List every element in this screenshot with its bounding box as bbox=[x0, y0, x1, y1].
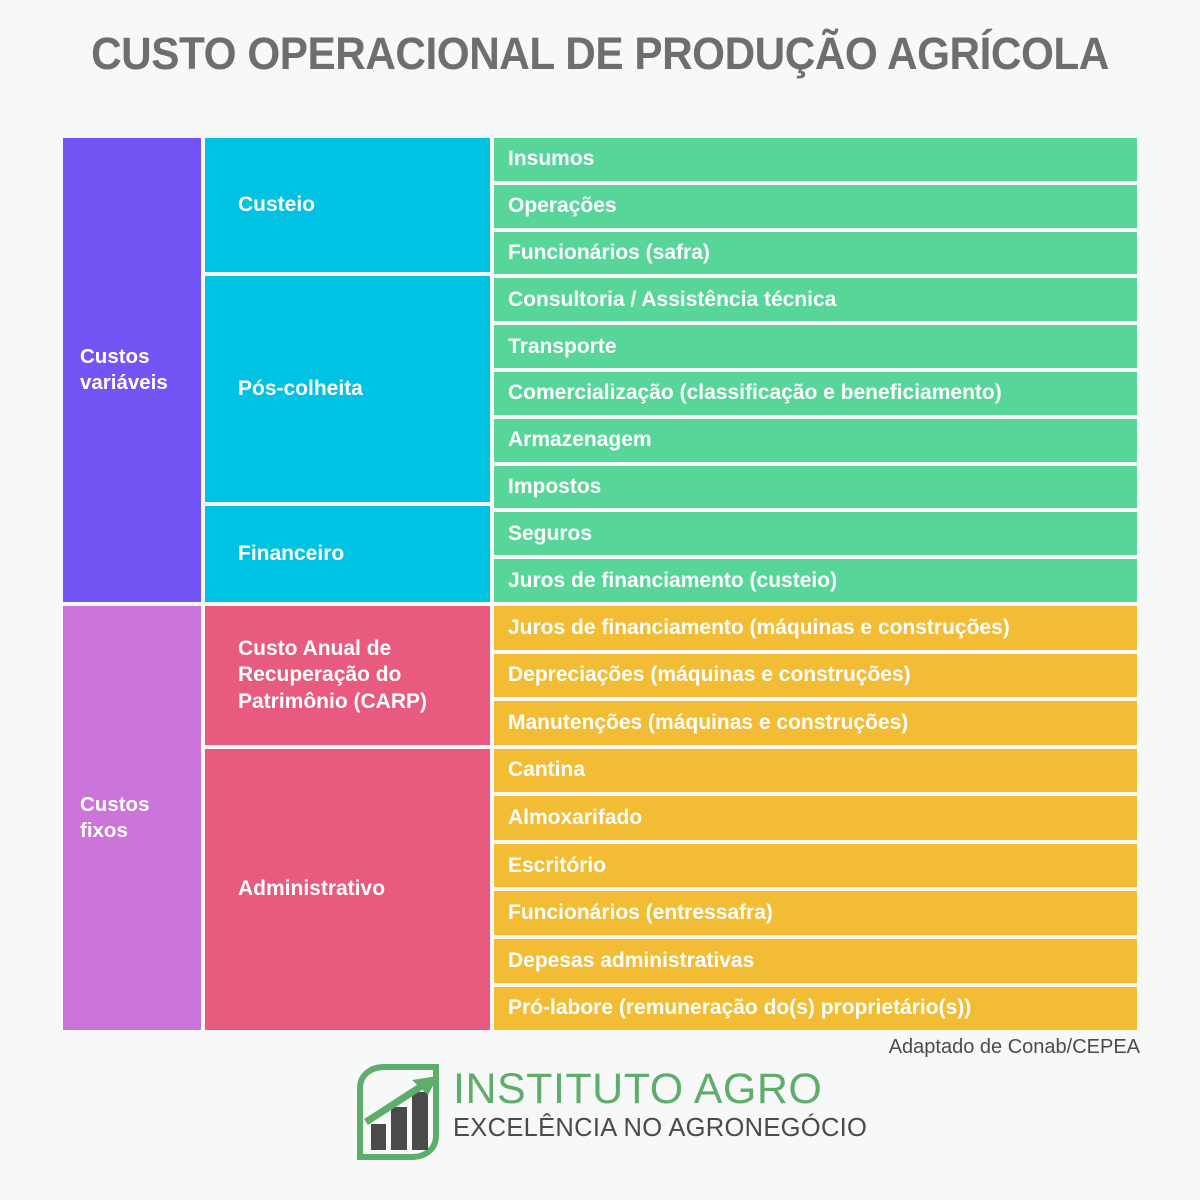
group-label: Custeio bbox=[238, 192, 315, 218]
item-comercializacao[interactable]: Comercialização (classificação e benefic… bbox=[494, 372, 1137, 415]
item-escritorio[interactable]: Escritório bbox=[494, 844, 1137, 888]
item-impostos[interactable]: Impostos bbox=[494, 466, 1137, 509]
item-juros-financiamento-maquinas[interactable]: Juros de financiamento (máquinas e const… bbox=[494, 606, 1137, 650]
group-carp[interactable]: Custo Anual de Recuperação do Patrimônio… bbox=[205, 606, 490, 745]
category-label: Custosfixos bbox=[80, 792, 149, 843]
item-despesas-administrativas[interactable]: Depesas administrativas bbox=[494, 939, 1137, 983]
item-depreciacoes[interactable]: Depreciações (máquinas e construções) bbox=[494, 654, 1137, 698]
logo-tagline: EXCELÊNCIA NO AGRONEGÓCIO bbox=[453, 1116, 867, 1142]
group-label: Pós-colheita bbox=[238, 376, 363, 402]
item-funcionarios-entressafra[interactable]: Funcionários (entressafra) bbox=[494, 891, 1137, 935]
variable-items-column: Insumos Operações Funcionários (safra) C… bbox=[494, 138, 1137, 602]
item-seguros[interactable]: Seguros bbox=[494, 512, 1137, 555]
category-custos-variaveis[interactable]: Custosvariáveis bbox=[63, 138, 201, 602]
group-administrativo[interactable]: Administrativo bbox=[205, 749, 490, 1030]
bar-chart-leaf-icon bbox=[352, 1062, 444, 1167]
group-custeio[interactable]: Custeio bbox=[205, 138, 490, 272]
source-credit: Adaptado de Conab/CEPEA bbox=[889, 1036, 1140, 1059]
page-title: CUSTO OPERACIONAL DE PRODUÇÃO AGRÍCOLA bbox=[36, 28, 1164, 80]
category-custos-fixos[interactable]: Custosfixos bbox=[63, 606, 201, 1030]
fixed-groups-column: Custo Anual de Recuperação do Patrimônio… bbox=[205, 606, 490, 1030]
logo-wordmark: INSTITUTO AGRO EXCELÊNCIA NO AGRONEGÓCIO bbox=[453, 1068, 867, 1142]
item-insumos[interactable]: Insumos bbox=[494, 138, 1137, 181]
item-cantina[interactable]: Cantina bbox=[494, 749, 1137, 793]
item-funcionarios-safra[interactable]: Funcionários (safra) bbox=[494, 232, 1137, 275]
item-operacoes[interactable]: Operações bbox=[494, 185, 1137, 228]
item-transporte[interactable]: Transporte bbox=[494, 325, 1137, 368]
logo-name: INSTITUTO AGRO bbox=[453, 1068, 867, 1111]
item-armazenagem[interactable]: Armazenagem bbox=[494, 419, 1137, 462]
item-consultoria-assistencia-tecnica[interactable]: Consultoria / Assistência técnica bbox=[494, 278, 1137, 321]
group-label: Custo Anual de Recuperação do Patrimônio… bbox=[238, 636, 482, 715]
group-financeiro[interactable]: Financeiro bbox=[205, 506, 490, 602]
item-manutencoes[interactable]: Manutenções (máquinas e construções) bbox=[494, 701, 1137, 745]
item-pro-labore[interactable]: Pró-labore (remuneração do(s) proprietár… bbox=[494, 987, 1137, 1031]
item-juros-financiamento-custeio[interactable]: Juros de financiamento (custeio) bbox=[494, 559, 1137, 602]
section-fixed-costs: Custosfixos Custo Anual de Recuperação d… bbox=[63, 606, 1137, 1030]
fixed-items-column: Juros de financiamento (máquinas e const… bbox=[494, 606, 1137, 1030]
item-almoxarifado[interactable]: Almoxarifado bbox=[494, 796, 1137, 840]
variable-groups-column: Custeio Pós-colheita Financeiro bbox=[205, 138, 490, 602]
section-variable-costs: Custosvariáveis Custeio Pós-colheita Fin… bbox=[63, 138, 1137, 602]
cost-structure-diagram: Custosvariáveis Custeio Pós-colheita Fin… bbox=[63, 138, 1137, 1030]
group-label: Financeiro bbox=[238, 541, 344, 567]
group-pos-colheita[interactable]: Pós-colheita bbox=[205, 276, 490, 502]
group-label: Administrativo bbox=[238, 876, 385, 902]
category-label: Custosvariáveis bbox=[80, 344, 168, 395]
instituto-agro-logo: INSTITUTO AGRO EXCELÊNCIA NO AGRONEGÓCIO bbox=[352, 1062, 867, 1167]
